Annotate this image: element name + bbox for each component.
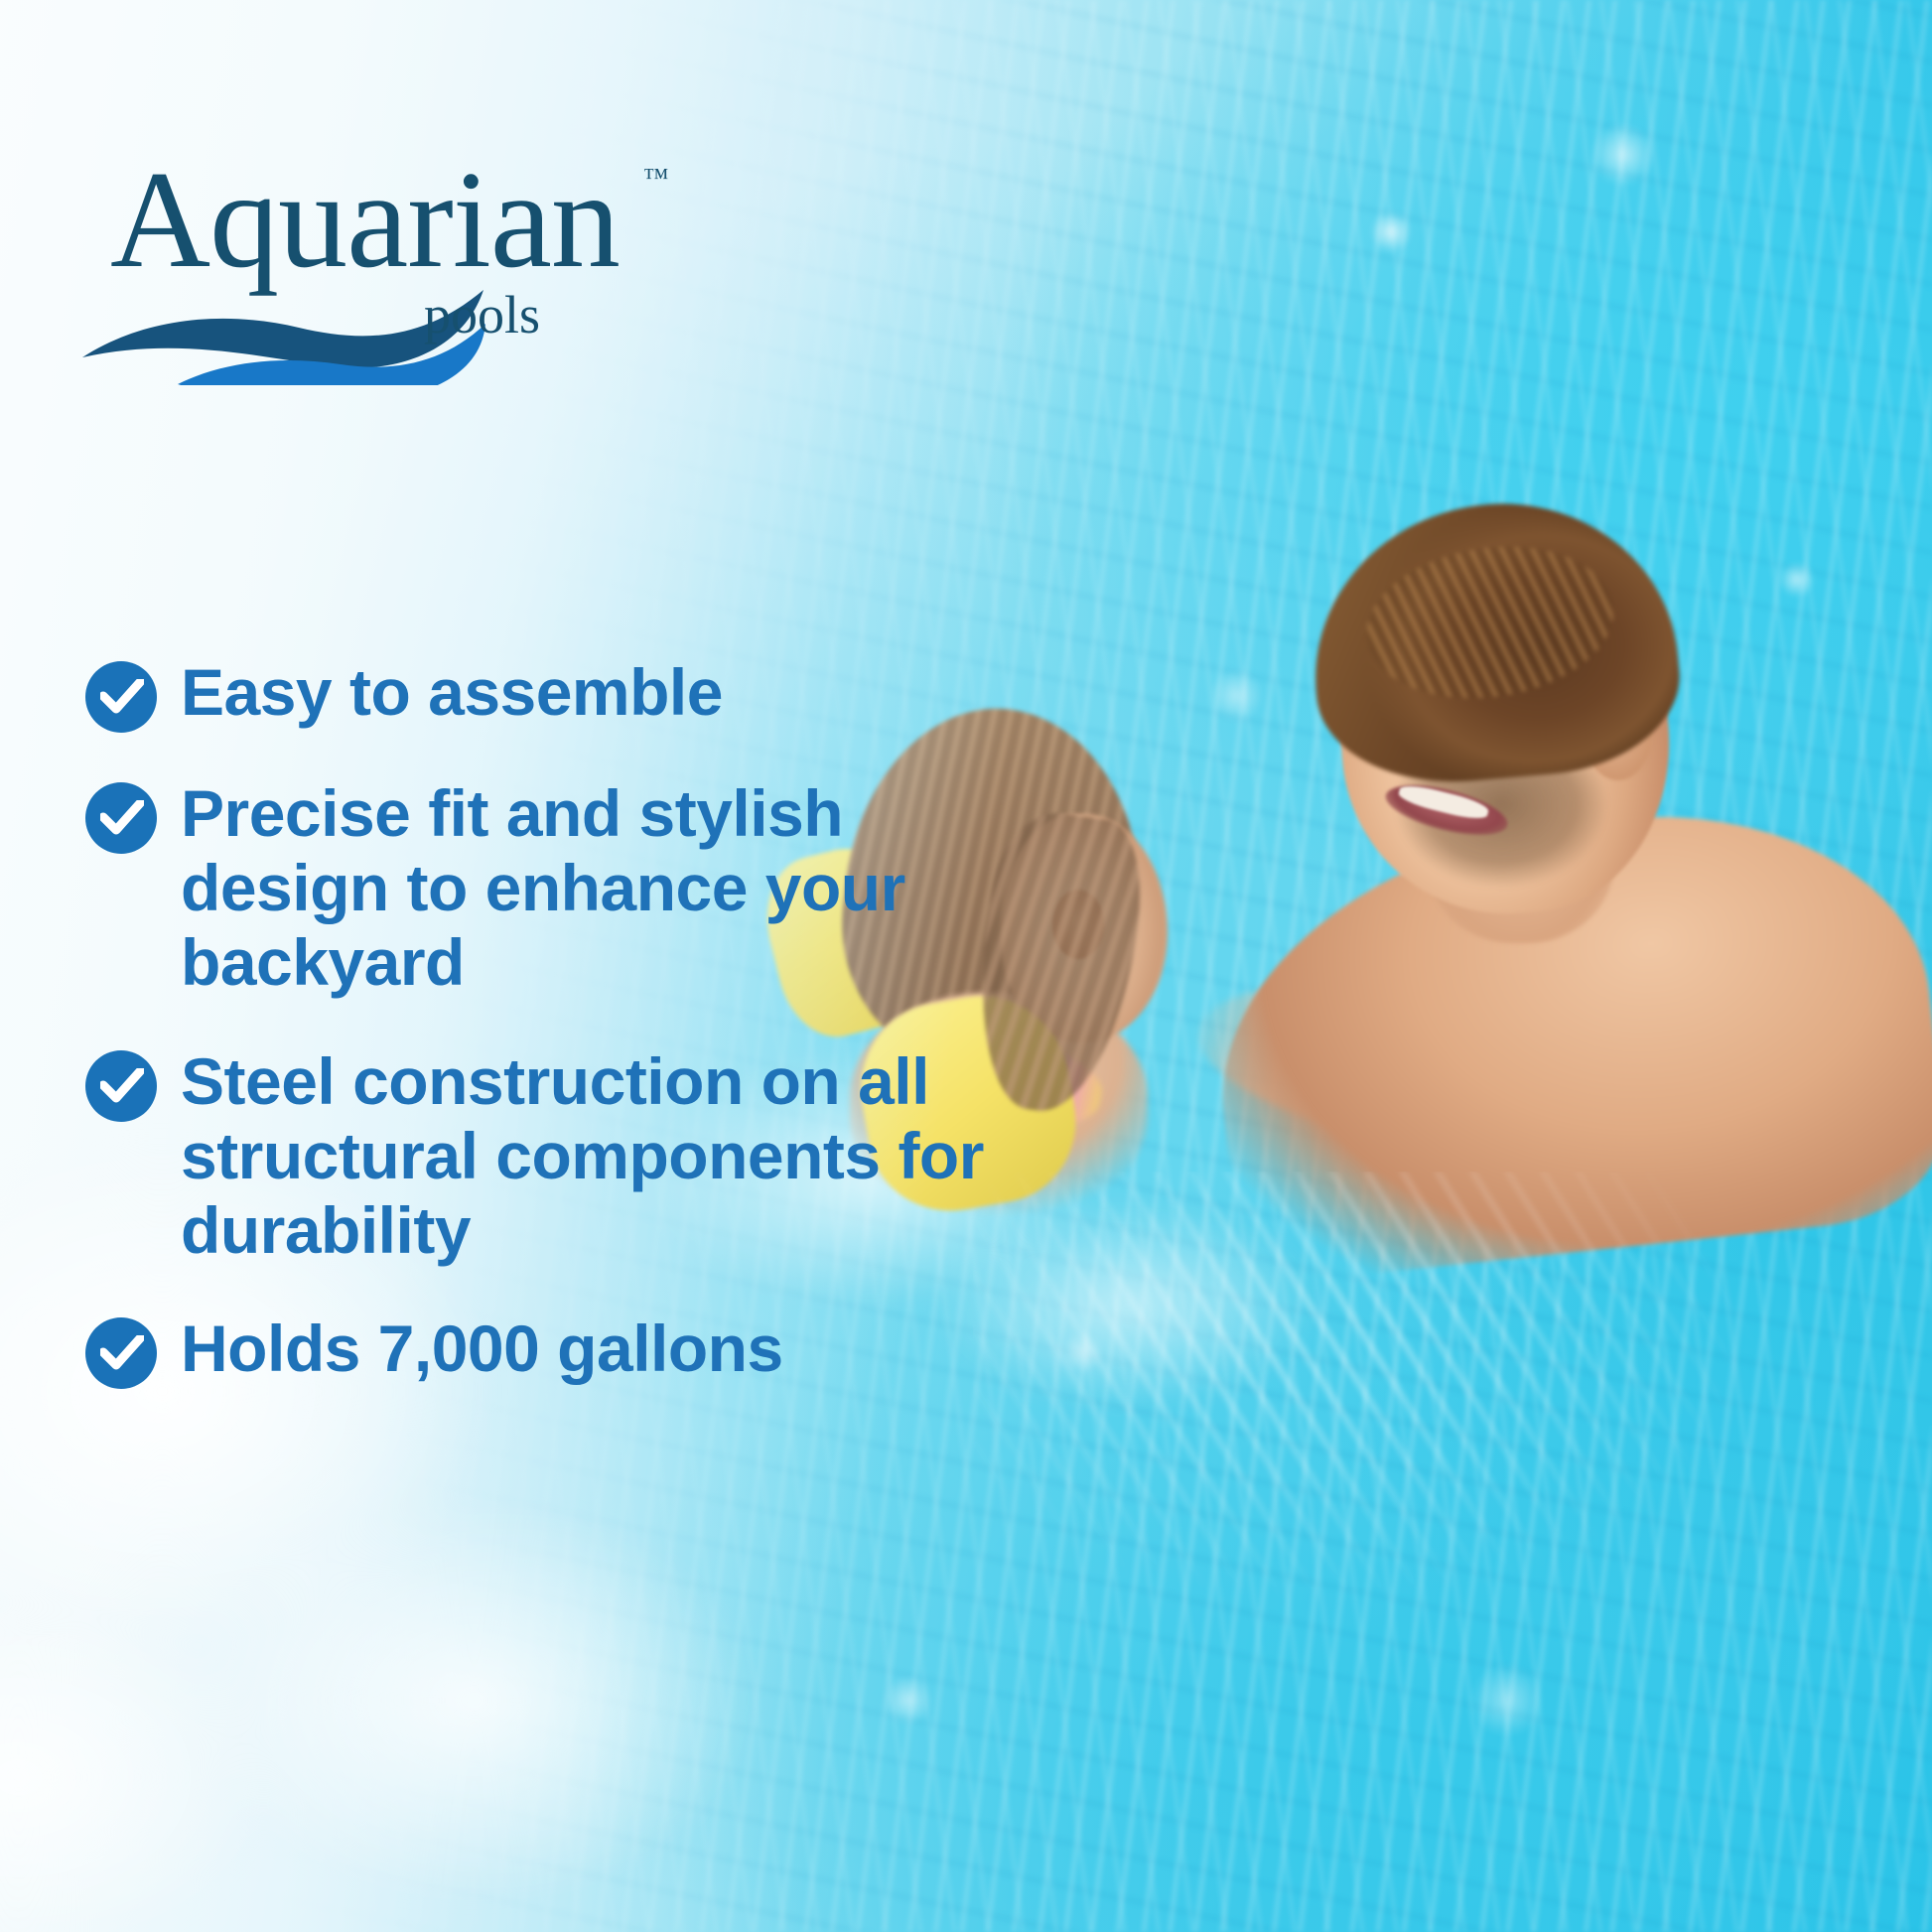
feature-label: Precise fit and stylish design to enhanc… [181,776,999,1001]
feature-item: Precise fit and stylish design to enhanc… [85,776,999,1001]
checkmark-glyph [100,800,144,836]
feature-label: Steel construction on all structural com… [181,1044,999,1269]
marketing-image: Aquarian ™ pools Easy to assemble Precis… [0,0,1932,1932]
feature-item: Holds 7,000 gallons [85,1311,999,1389]
feature-list: Easy to assemble Precise fit and stylish… [85,655,999,1389]
feature-label: Easy to assemble [181,655,723,730]
feature-label: Holds 7,000 gallons [181,1311,783,1386]
feature-item: Steel construction on all structural com… [85,1044,999,1269]
feature-item: Easy to assemble [85,655,999,733]
check-circle-icon [85,782,157,854]
check-circle-icon [85,1317,157,1389]
brand-tagline: pools [424,288,540,342]
check-circle-icon [85,1050,157,1122]
checkmark-glyph [100,1335,144,1371]
check-circle-icon [85,661,157,733]
trademark-symbol: ™ [643,165,668,191]
checkmark-glyph [100,1068,144,1104]
brand-logo: Aquarian ™ pools [102,151,718,389]
checkmark-glyph [100,679,144,715]
